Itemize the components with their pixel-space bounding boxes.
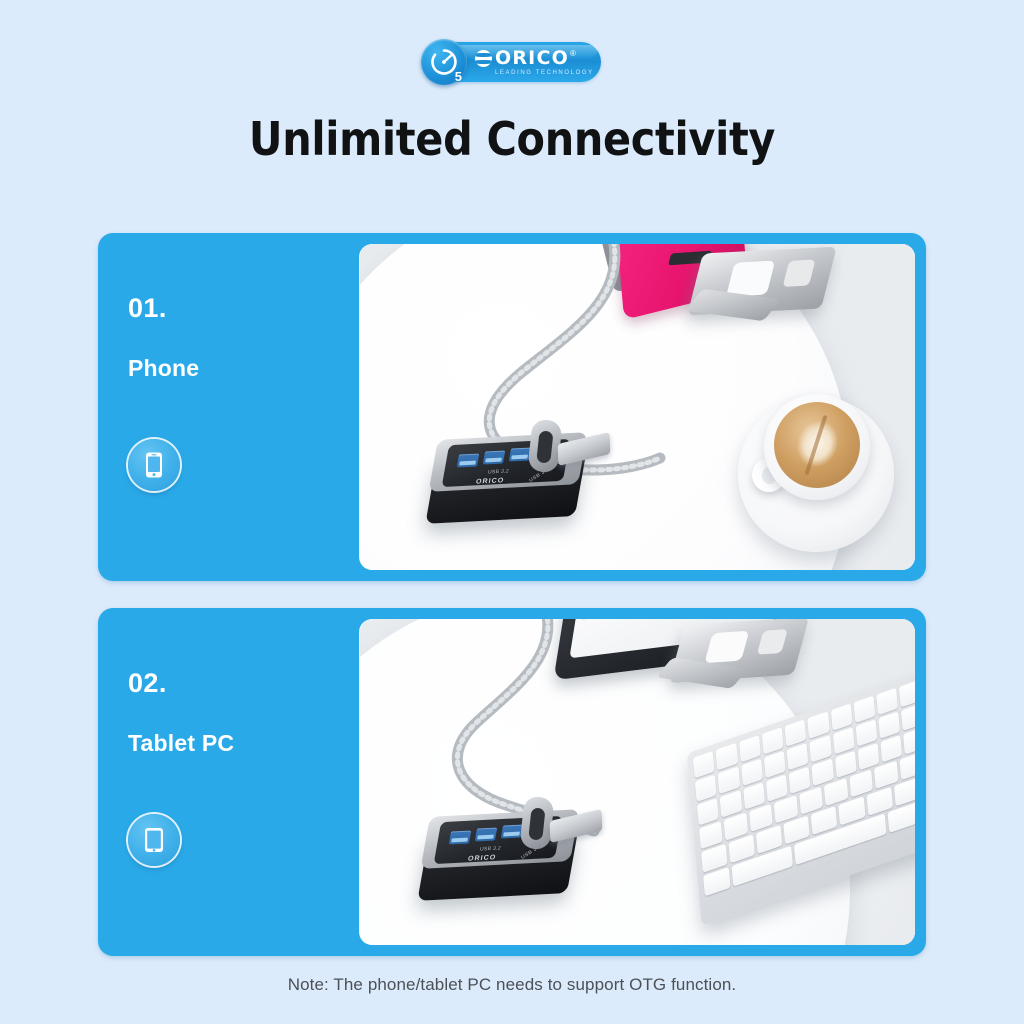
hub-label-usb32: USB 3.2 <box>487 468 509 475</box>
brand-pill: 5 ORICO ® LEADING TECHNOLOGY <box>423 42 601 82</box>
brand-wordmark: ORICO ® LEADING TECHNOLOGY <box>475 49 594 76</box>
card-left-panel: 01. Phone <box>98 233 360 581</box>
tablet-icon <box>128 814 180 866</box>
card-left-panel: 02. Tablet PC <box>98 608 360 956</box>
brand-logo: 5 ORICO ® LEADING TECHNOLOGY <box>0 36 1024 88</box>
globe-icon <box>475 50 492 67</box>
step-title: Tablet PC <box>128 730 234 757</box>
step-number: 02. <box>128 668 167 699</box>
hub-label-usb32: USB 3.2 <box>479 845 501 852</box>
page-title: Unlimited Connectivity <box>0 112 1024 166</box>
brand-name: ORICO <box>495 49 569 68</box>
brand-tagline: LEADING TECHNOLOGY <box>495 70 594 76</box>
gauge-number: 5 <box>455 69 462 84</box>
usb-port-1 <box>457 453 480 467</box>
product-photo-tablet: ABC 🌐 U <box>360 619 915 945</box>
usb-port-1 <box>449 830 472 844</box>
step-number: 01. <box>128 293 167 324</box>
speed-gauge-icon: 5 <box>421 39 467 85</box>
footer-note: Note: The phone/tablet PC needs to suppo… <box>0 975 1024 995</box>
registered-mark: ® <box>570 50 576 58</box>
feature-card-tablet: 02. Tablet PC ABC 🌐 <box>98 608 926 956</box>
phone-icon <box>128 439 180 491</box>
usb-port-2 <box>475 827 498 841</box>
step-title: Phone <box>128 355 199 382</box>
product-photo-phone: USB 3.2 USB 3.2 Gen2 10Gb ORICO <box>360 244 915 570</box>
product-infographic: 5 ORICO ® LEADING TECHNOLOGY Unlimited C… <box>0 0 1024 1024</box>
feature-card-phone: 01. Phone <box>98 233 926 581</box>
usb-port-2 <box>483 450 506 464</box>
